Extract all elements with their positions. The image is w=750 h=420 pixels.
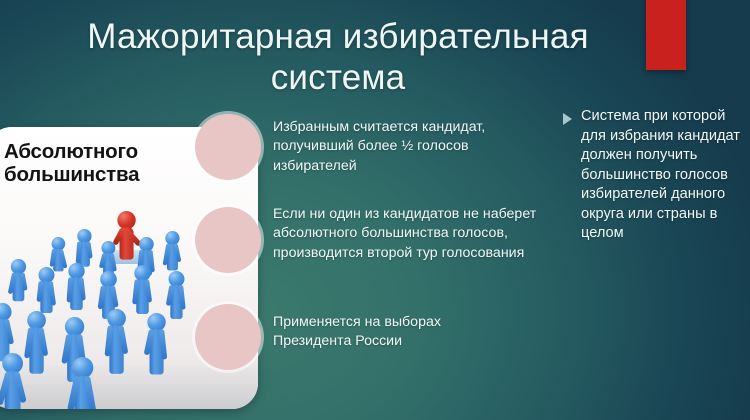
triangle-bullet-icon bbox=[563, 113, 572, 125]
point-text-2: Если ни один из кандидатов не наберет аб… bbox=[273, 205, 541, 263]
card-label: Абсолютного большинства bbox=[4, 141, 204, 187]
point-marker-circle-3 bbox=[195, 304, 261, 370]
slide-canvas: Мажоритарная избирательная система bbox=[0, 0, 750, 420]
point-marker-circle-2 bbox=[195, 207, 261, 273]
figure-arm-right bbox=[79, 277, 86, 300]
definition-block: Система при которой для избрания кандида… bbox=[563, 107, 749, 244]
point-text-1: Избранным считается кандидат, получивший… bbox=[273, 118, 535, 176]
point-text-3: Применяется на выборах Президента России bbox=[273, 313, 523, 352]
point-marker-circle-1 bbox=[195, 114, 261, 180]
definition-text: Система при которой для избрания кандида… bbox=[581, 107, 749, 244]
red-accent-bar bbox=[646, 0, 686, 70]
page-title: Мажоритарная избирательная система bbox=[48, 16, 628, 99]
